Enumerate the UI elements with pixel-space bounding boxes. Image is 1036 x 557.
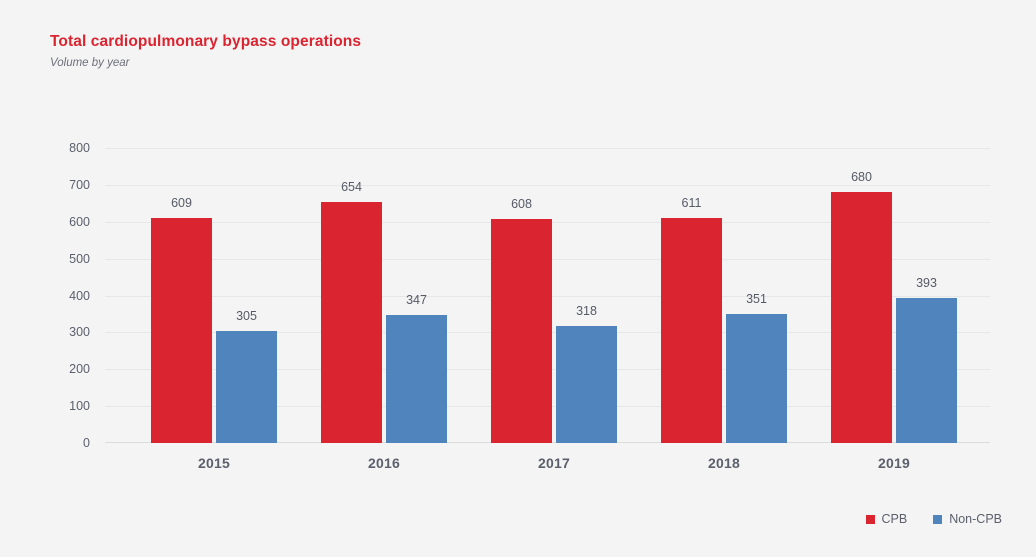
bar-cpb-2016[interactable] [321,202,382,443]
plot-area: 609305654347608318611351680393 [105,148,990,443]
legend-swatch-icon [866,515,875,524]
legend-label: CPB [882,512,908,526]
legend-item-non-cpb[interactable]: Non-CPB [933,512,1002,526]
chart-legend: CPBNon-CPB [0,512,1002,526]
y-axis-tick-label: 700 [44,178,90,192]
bar-value-label: 611 [682,196,702,210]
gridline [105,148,990,149]
y-axis-tick-label: 100 [44,399,90,413]
bar-non-cpb-2016[interactable] [386,315,447,443]
x-axis-tick-label-2017: 2017 [538,455,570,471]
bar-value-label: 609 [171,196,192,210]
bar-value-label: 393 [916,276,937,290]
legend-swatch-icon [933,515,942,524]
bar-value-label: 654 [341,180,362,194]
bar-value-label: 318 [576,304,597,318]
y-axis-tick-label: 400 [44,289,90,303]
x-axis-tick-label-2018: 2018 [708,455,740,471]
legend-label: Non-CPB [949,512,1002,526]
bar-non-cpb-2015[interactable] [216,331,277,443]
legend-item-cpb[interactable]: CPB [866,512,908,526]
y-axis-tick-label: 500 [44,252,90,266]
bar-non-cpb-2018[interactable] [726,314,787,443]
bar-value-label: 347 [406,293,427,307]
bar-cpb-2015[interactable] [151,218,212,443]
chart-canvas: 0100200300400500600700800 60930565434760… [0,0,1036,557]
x-axis-tick-label-2015: 2015 [198,455,230,471]
y-axis-tick-label: 200 [44,362,90,376]
x-axis-tick-label-2019: 2019 [878,455,910,471]
bar-value-label: 351 [746,292,767,306]
bar-non-cpb-2019[interactable] [896,298,957,443]
gridline [105,185,990,186]
bar-cpb-2017[interactable] [491,219,552,443]
y-axis-tick-label: 0 [44,436,90,450]
bar-non-cpb-2017[interactable] [556,326,617,443]
x-axis-tick-label-2016: 2016 [368,455,400,471]
bar-value-label: 680 [851,170,872,184]
bar-cpb-2019[interactable] [831,192,892,443]
y-axis-tick-label: 300 [44,325,90,339]
y-axis-tick-label: 800 [44,141,90,155]
bar-value-label: 608 [511,197,532,211]
y-axis-tick-label: 600 [44,215,90,229]
bar-cpb-2018[interactable] [661,218,722,443]
bar-value-label: 305 [236,309,257,323]
